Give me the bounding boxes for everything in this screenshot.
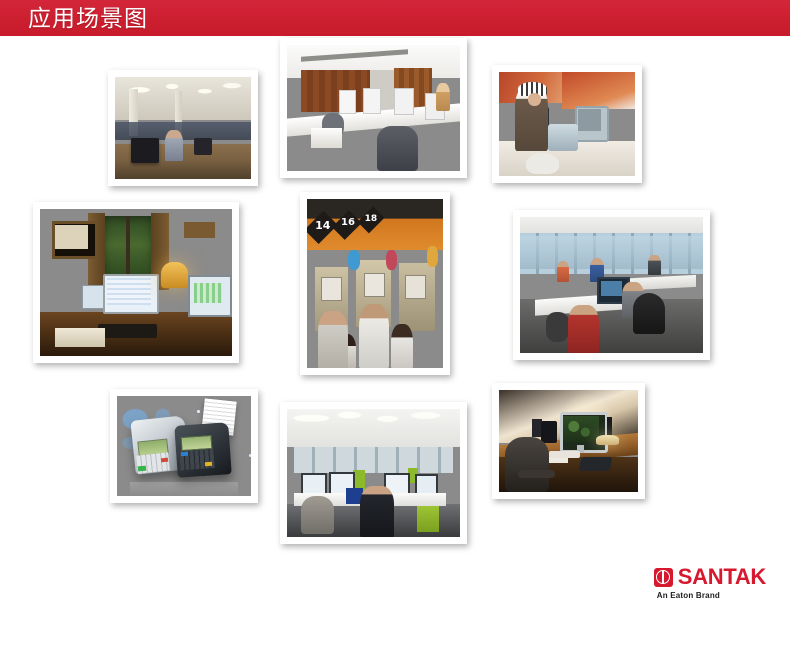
logo-row: SANTAK — [586, 566, 766, 588]
page-title: 应用场景图 — [28, 5, 148, 33]
brand-name: SANTAK — [678, 566, 766, 588]
photo-image-payment-terminals — [117, 396, 251, 496]
header-banner: 应用场景图 — [0, 0, 790, 36]
photo-image-home-office-imac — [499, 390, 638, 492]
photo-image-open-plan-workspace — [520, 217, 703, 353]
brand-logo: SANTAK An Eaton Brand — [586, 566, 766, 600]
photo-image-open-office-worker — [115, 77, 251, 179]
santak-mark-icon — [654, 568, 673, 587]
gallery-photo-payment-terminals[interactable] — [110, 389, 258, 503]
gallery-photo-open-office-worker[interactable] — [108, 70, 258, 186]
photo-image-supermarket-checkout: 141618 — [307, 199, 443, 368]
gallery-photo-green-accent-office[interactable] — [280, 402, 467, 544]
gallery-photo-home-office-imac[interactable] — [492, 383, 645, 499]
photo-image-modern-office-wood-wall — [287, 45, 460, 171]
gallery-photo-modern-office-wood-wall[interactable] — [280, 38, 467, 178]
photo-gallery: 141618 — [0, 36, 790, 546]
gallery-photo-cafe-pos-counter[interactable] — [492, 65, 642, 183]
brand-tagline: An Eaton Brand — [586, 591, 766, 600]
photo-image-home-study-desk — [40, 209, 232, 356]
photo-image-green-accent-office — [287, 409, 460, 537]
gallery-photo-home-study-desk[interactable] — [33, 202, 239, 363]
photo-image-cafe-pos-counter — [499, 72, 635, 176]
gallery-photo-open-plan-workspace[interactable] — [513, 210, 710, 360]
gallery-photo-supermarket-checkout[interactable]: 141618 — [300, 192, 450, 375]
